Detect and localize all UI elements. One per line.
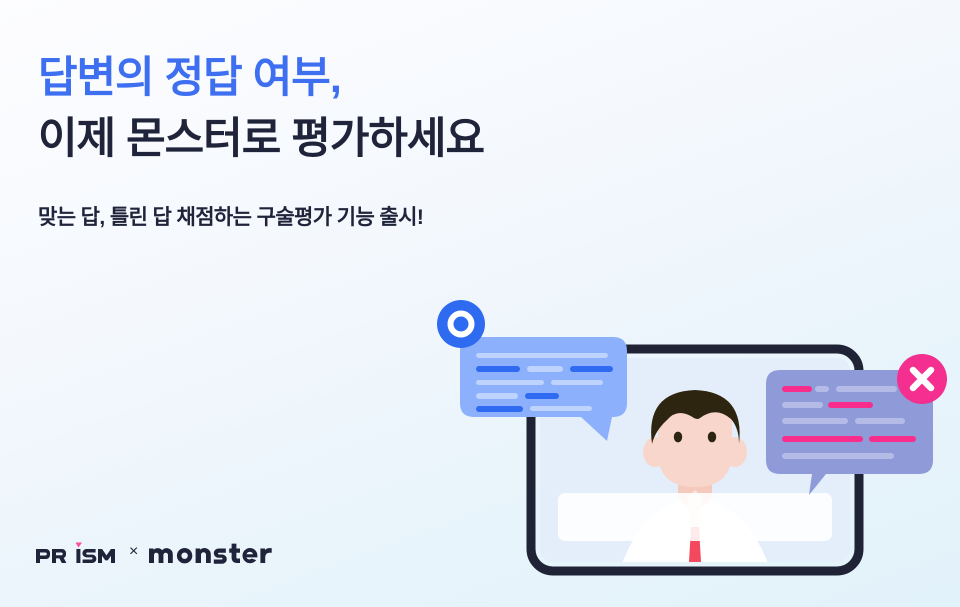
page-title: 답변의 정답 여부, 이제 몬스터로 평가하세요	[38, 48, 484, 170]
prism-accent-icon	[76, 543, 83, 548]
correct-badge	[437, 300, 485, 348]
headline-line-2: 이제 몬스터로 평가하세요	[38, 115, 484, 163]
prism-logo	[35, 541, 118, 565]
headline-line-1: 답변의 정답 여부,	[38, 54, 341, 102]
subtitle: 맞는 답, 틀린 답 채점하는 구술평가 기능 출시!	[38, 201, 423, 231]
logo-separator: ×	[129, 544, 138, 562]
audio-waveform	[558, 493, 832, 541]
incorrect-badge	[897, 354, 947, 404]
brand-logo-lockup: ×	[35, 541, 272, 565]
promo-banner: 답변의 정답 여부, 이제 몬스터로 평가하세요 맞는 답, 틀린 답 채점하는…	[0, 0, 960, 607]
monster-logo	[149, 541, 272, 565]
